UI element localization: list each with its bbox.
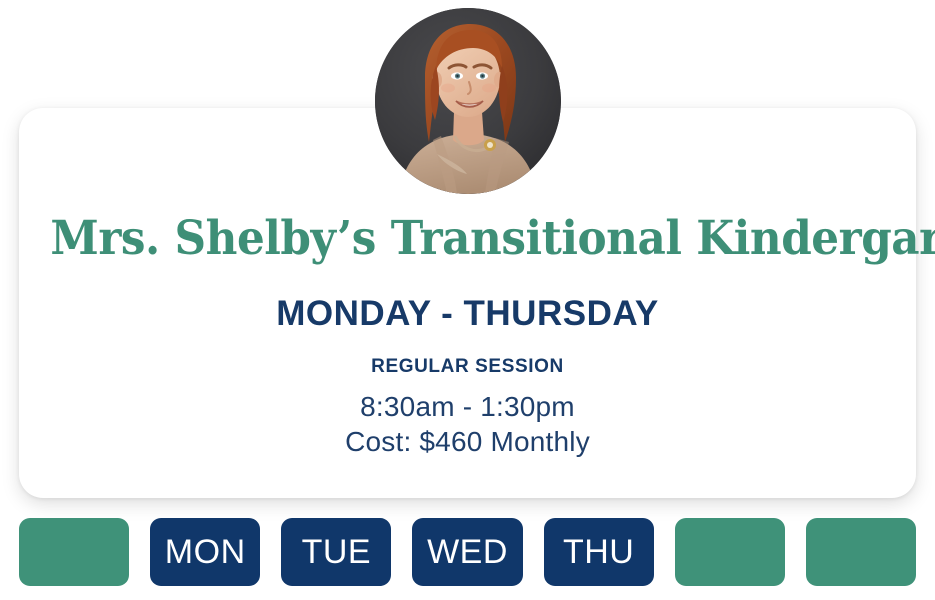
day-tile-mon[interactable]: MON	[150, 518, 260, 586]
day-tile-thu[interactable]: THU	[544, 518, 654, 586]
session-label: REGULAR SESSION	[19, 356, 916, 378]
schedule-card-page: Mrs. Shelby’s Transitional Kindergarten …	[0, 0, 935, 600]
day-tile-strip: MONTUEWEDTHU	[19, 518, 916, 586]
session-cost: Cost: $460 Monthly	[19, 426, 916, 458]
day-tile-fri[interactable]	[675, 518, 785, 586]
day-tile-label: THU	[563, 533, 634, 572]
page-title: Mrs. Shelby’s Transitional Kindergarten	[50, 214, 884, 263]
day-tile-label: TUE	[302, 533, 372, 572]
session-time-range: 8:30am - 1:30pm	[19, 391, 916, 423]
day-tile-label: MON	[165, 533, 246, 572]
days-heading: MONDAY - THURSDAY	[19, 294, 916, 334]
portrait-illustration	[375, 8, 561, 194]
day-tile-sun[interactable]	[19, 518, 129, 586]
day-tile-label: WED	[427, 533, 508, 572]
teacher-portrait-photo	[375, 8, 561, 194]
day-tile-sat[interactable]	[806, 518, 916, 586]
day-tile-wed[interactable]: WED	[412, 518, 522, 586]
day-tile-tue[interactable]: TUE	[281, 518, 391, 586]
